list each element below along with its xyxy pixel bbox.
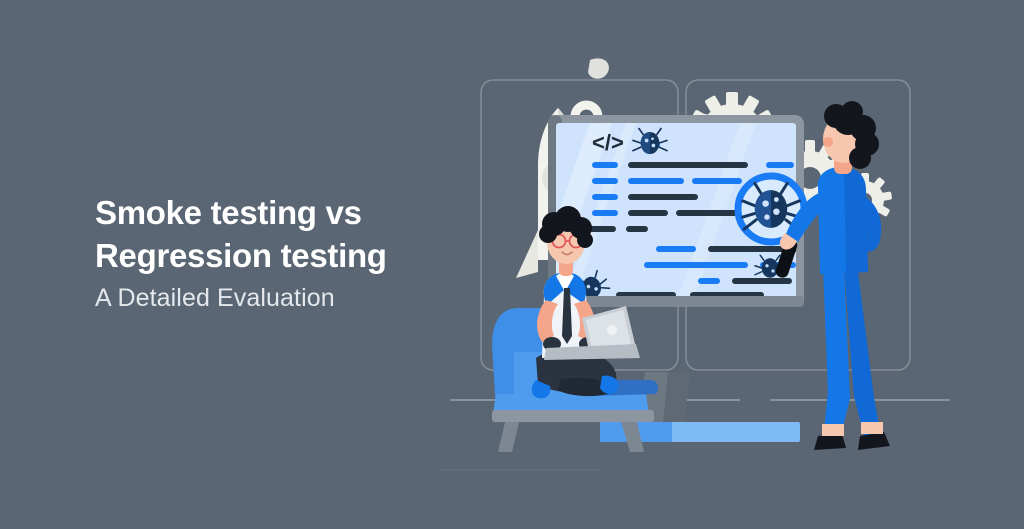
bug-4 (616, 90, 634, 111)
code-symbol: </> (592, 130, 624, 155)
headline-group: Smoke testing vs Regression testing A De… (95, 192, 475, 313)
page-title: Smoke testing vs Regression testing (95, 192, 475, 278)
banner-root: Smoke testing vs Regression testing A De… (0, 0, 1024, 529)
headline-line-2: Regression testing (95, 235, 475, 278)
headline-line-1: Smoke testing vs (95, 194, 362, 231)
page-subtitle: A Detailed Evaluation (95, 284, 475, 313)
illustration: </> (440, 0, 1024, 529)
